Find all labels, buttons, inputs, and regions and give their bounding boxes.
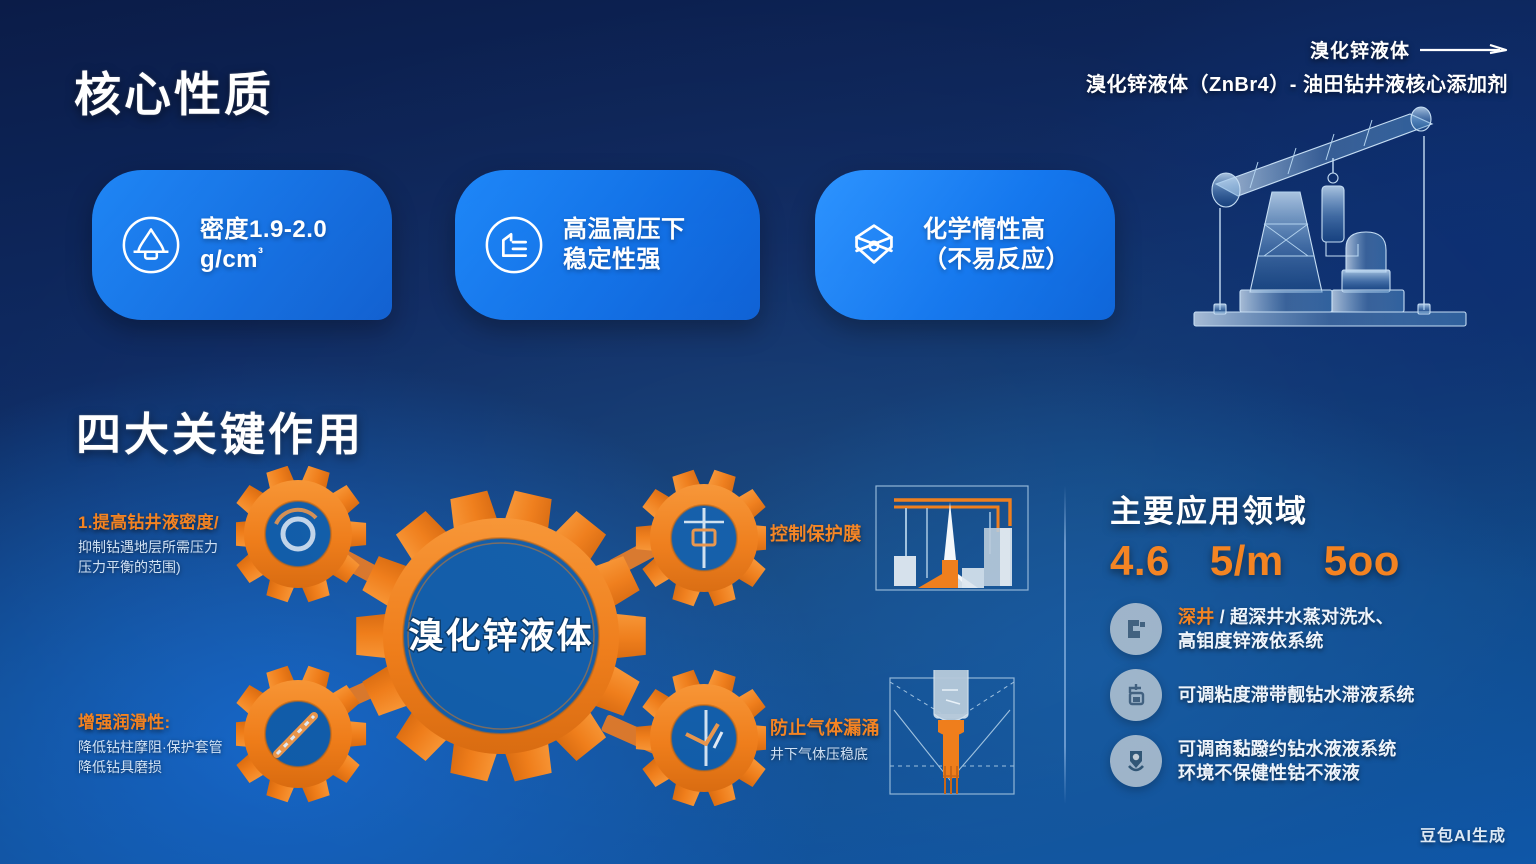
gear-label-bottom-left-title: 增强润滑性: <box>78 708 268 733</box>
section-title-core: 核心性质 <box>74 56 274 125</box>
applications-title: 主要应用领域 <box>1110 486 1510 531</box>
rig-equipment-diagram <box>872 482 1032 594</box>
gear-label-top-left-sub: 抑制钻遇地层所需压力 压力平衡的范围) <box>78 537 268 578</box>
application-row-viscosity-text: 可调粘度滞带靓钻水滞液系统 <box>1178 683 1415 707</box>
application-row-eco-text: 可调商黏蹳约钻水液液系统 环境不保健性钴不液液 <box>1178 737 1396 786</box>
watermark: 豆包AI生成 <box>1420 822 1506 846</box>
deep-well-rest: / 超深井水蒸对洗水、 <box>1214 607 1393 627</box>
property-card-density: 密度1.9-2.0 g/cm³ <box>92 170 392 320</box>
stability-line1: 高温高压下 <box>563 216 686 243</box>
application-row-deep-well: 深井 / 超深井水蒸对洗水、 高钼度锌液依系统 <box>1110 603 1510 655</box>
eco-rest: 可调商黏蹳约钻水液液系统 <box>1178 739 1396 759</box>
header-block: 溴化锌液体 溴化锌液体（ZnBr4）- 油田钻井液核心添加剂 <box>1086 36 1508 97</box>
header-brand-row: 溴化锌液体 <box>1086 36 1508 63</box>
density-drop-icon <box>120 214 182 276</box>
applications-panel: 主要应用领域 4.6 5/m 5oo 深井 / 超深井水蒸对洗水、 高钼度锌液依… <box>1110 486 1510 787</box>
gear-satellite-tr <box>636 469 766 607</box>
layers-stability-icon <box>483 214 545 276</box>
panel-divider <box>1064 486 1066 804</box>
shield-molecule-icon <box>843 214 905 276</box>
deep-well-icon <box>1110 603 1162 655</box>
applications-rows: 深井 / 超深井水蒸对洗水、 高钼度锌液依系统 可调粘度滞带靓钻水滞液系统 <box>1110 603 1510 787</box>
gear-label-top-left: 1.提高钻井液密度/ 抑制钻遇地层所需压力 压力平衡的范围) <box>78 508 268 578</box>
header-brand-label: 溴化锌液体 <box>1310 36 1410 63</box>
gear-diagram: 溴化锌液体 <box>236 466 766 806</box>
viscosity-icon <box>1110 669 1162 721</box>
stability-line2: 稳定性强 <box>563 246 661 273</box>
oil-pumpjack-illustration <box>1180 96 1520 346</box>
gear-satellite-br <box>636 669 766 806</box>
eco-line2: 环境不保健性钴不液液 <box>1178 763 1360 783</box>
gear-label-top-left-title: 1.提高钻井液密度/ <box>78 508 268 533</box>
property-card-inertness-text: 化学惰性高 （不易反应） <box>923 215 1070 275</box>
application-row-eco: 可调商黏蹳约钻水液液系统 环境不保健性钴不液液 <box>1110 735 1510 787</box>
eco-shield-icon <box>1110 735 1162 787</box>
gear-label-bottom-left: 增强润滑性: 降低钻柱摩阻·保护套管 降低钻具磨损 <box>78 708 268 778</box>
density-line1: 密度1.9-2.0 <box>200 216 327 243</box>
viscosity-rest: 可调粘度滞带靓钻水滞液系统 <box>1178 685 1415 705</box>
deep-well-highlight: 深井 <box>1178 607 1214 627</box>
downhole-valve-diagram <box>872 670 1032 798</box>
property-card-inertness: 化学惰性高 （不易反应） <box>815 170 1115 320</box>
stat-1: 5/m <box>1210 537 1284 585</box>
application-row-viscosity: 可调粘度滞带靓钻水滞液系统 <box>1110 669 1510 721</box>
infographic-canvas: 溴化锌液体 溴化锌液体（ZnBr4）- 油田钻井液核心添加剂 核心性质 密度1.… <box>0 0 1536 864</box>
stat-0: 4.6 <box>1110 537 1170 585</box>
applications-stats: 4.6 5/m 5oo <box>1110 537 1510 585</box>
gear-label-bottom-left-sub: 降低钻柱摩阻·保护套管 降低钻具磨损 <box>78 737 268 778</box>
stat-2: 5oo <box>1324 537 1400 585</box>
section-title-roles: 四大关键作用 <box>76 398 364 463</box>
property-card-density-text: 密度1.9-2.0 g/cm³ <box>200 215 327 275</box>
header-subtitle: 溴化锌液体（ZnBr4）- 油田钻井液核心添加剂 <box>1086 68 1508 97</box>
property-card-stability: 高温高压下 稳定性强 <box>455 170 760 320</box>
arrow-right-icon <box>1420 44 1508 56</box>
density-line2: g/cm <box>200 246 258 273</box>
deep-well-line2: 高钼度锌液依系统 <box>1178 631 1324 651</box>
density-superscript: ³ <box>258 246 263 262</box>
gear-center-label: 溴化锌液体 <box>408 617 593 656</box>
inertness-line2: （不易反应） <box>923 246 1070 273</box>
property-card-stability-text: 高温高压下 稳定性强 <box>563 215 686 275</box>
application-row-deep-well-text: 深井 / 超深井水蒸对洗水、 高钼度锌液依系统 <box>1178 605 1394 654</box>
inertness-line1: 化学惰性高 <box>923 216 1046 243</box>
